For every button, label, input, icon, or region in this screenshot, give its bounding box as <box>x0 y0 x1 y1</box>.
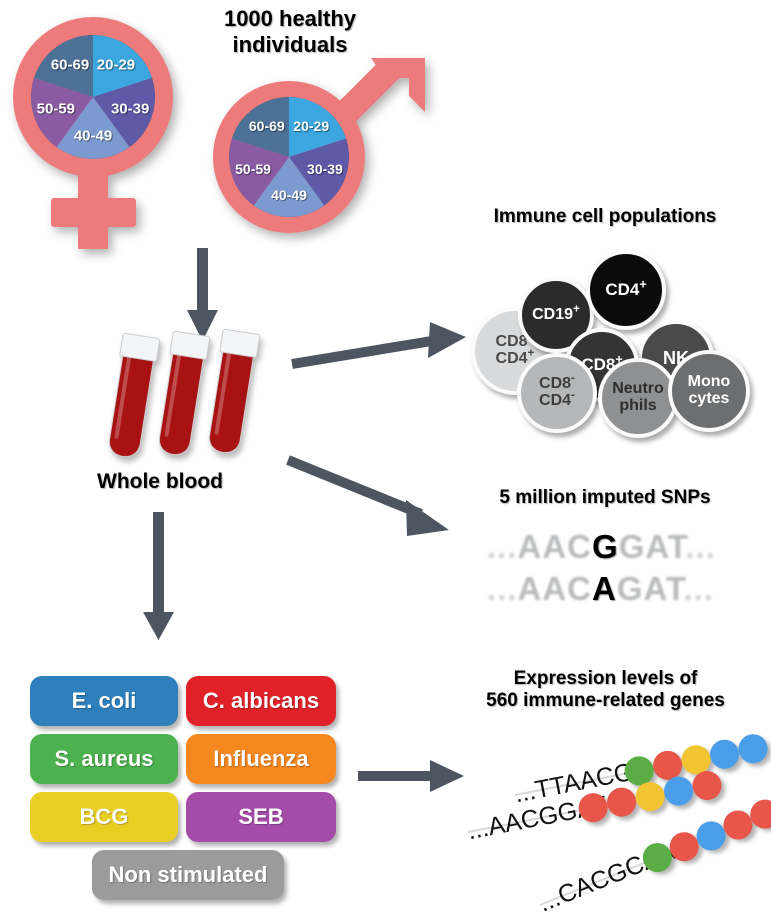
cell-monocytes: Mono cytes <box>668 350 750 432</box>
stimulus-bcg[interactable]: BCG <box>30 792 178 842</box>
tube-body <box>157 345 206 458</box>
section-title-immune: Immune cell populations <box>440 206 770 228</box>
age-pie-female: 20-2930-3940-4950-5960-69 <box>31 35 155 159</box>
stimulus-label: Non stimulated <box>109 862 268 888</box>
snp-suffix: ... <box>685 528 716 565</box>
stimulus-c-albicans[interactable]: C. albicans <box>186 676 336 726</box>
male-symbol: 20-2930-3940-4950-5960-69 <box>208 48 428 248</box>
pie-label-20-29: 20-29 <box>97 57 135 74</box>
section-title-expression: Expression levels of560 immune-related g… <box>440 668 771 713</box>
cell-cd8neg-cd4neg-line2: CD4- <box>539 392 575 409</box>
arrow-blood-to-snps <box>286 452 466 542</box>
cell-monocytes-line1: Mono <box>688 373 731 390</box>
stimulus-s-aureus[interactable]: S. aureus <box>30 734 178 784</box>
stimulus-label: SEB <box>238 804 283 830</box>
cell-neutrophils-line2: phils <box>619 397 656 414</box>
figure-canvas: 1000 healthyindividuals 20-2930-3940-495… <box>0 0 771 922</box>
snp-right: GAT <box>617 570 684 607</box>
cell-neutrophils: Neutro phils <box>598 358 678 438</box>
pie-label-40-49: 40-49 <box>271 187 307 203</box>
cell-cd8neg-cd4neg: CD8- CD4- <box>517 353 597 433</box>
pie-label-30-39: 30-39 <box>111 101 149 118</box>
snp-prefix: ... <box>487 528 518 565</box>
arrow-blood-to-stimuli <box>140 512 180 642</box>
female-symbol: 20-2930-3940-4950-5960-69 <box>8 12 188 252</box>
stimulus-influenza[interactable]: Influenza <box>186 734 336 784</box>
pie-label-50-59: 50-59 <box>37 101 75 118</box>
stimulus-label: S. aureus <box>54 746 153 772</box>
snp-prefix: ... <box>487 570 518 607</box>
stimulus-label: C. albicans <box>203 688 319 714</box>
tube-body <box>107 347 156 460</box>
pie-label-50-59: 50-59 <box>235 161 271 177</box>
arrow-blood-to-immune <box>290 318 470 378</box>
snp-left: AAC <box>518 570 593 607</box>
cell-monocytes-line2: cytes <box>689 390 730 407</box>
stimulus-seb[interactable]: SEB <box>186 792 336 842</box>
female-symbol-crossbar <box>51 198 136 227</box>
gene-bead <box>605 785 639 819</box>
blood-tube <box>206 329 259 459</box>
gene-bead <box>736 732 770 766</box>
stimulus-label: Influenza <box>213 746 308 772</box>
blood-tube <box>106 333 159 463</box>
blood-tube <box>156 331 209 461</box>
stimulus-label: BCG <box>80 804 129 830</box>
blood-tubes <box>100 330 270 470</box>
snp-suffix: ... <box>683 570 714 607</box>
age-pie-male: 20-2930-3940-4950-5960-69 <box>229 97 349 217</box>
cell-neutrophils-line1: Neutro <box>612 380 664 397</box>
stimulus-label: E. coli <box>72 688 137 714</box>
snp-sequence-row: ...AACGGAT... <box>487 528 716 566</box>
snp-variant: G <box>592 528 619 565</box>
pie-label-30-39: 30-39 <box>307 161 343 177</box>
cell-cd8neg-cd4neg-line1: CD8- <box>539 375 575 392</box>
pie-label-20-29: 20-29 <box>293 118 329 134</box>
pie-label-60-69: 60-69 <box>51 57 89 74</box>
label-whole-blood: Whole blood <box>60 470 260 494</box>
stimuli-panel: E. coli C. albicans S. aureus Influenza … <box>30 676 350 896</box>
gene-bead <box>662 774 696 808</box>
snp-variant: A <box>592 570 617 607</box>
stimulus-non-stimulated[interactable]: Non stimulated <box>92 850 284 900</box>
arrow-stimuli-to-expression <box>358 752 468 800</box>
pie-label-40-49: 40-49 <box>74 128 112 145</box>
title-individuals-line1: 1000 healthy <box>224 6 356 31</box>
cell-cd4pos: CD4+ <box>586 250 666 330</box>
stimulus-e-coli[interactable]: E. coli <box>30 676 178 726</box>
snp-right: GAT <box>619 528 686 565</box>
immune-cell-cluster: CD8+ CD4+ CD19+ NK CD4+ CD8+ CD8- CD4- <box>455 240 771 420</box>
pie-label-60-69: 60-69 <box>249 118 285 134</box>
snp-left: AAC <box>518 528 593 565</box>
section-title-snps: 5 million imputed SNPs <box>440 487 770 509</box>
gene-bead <box>633 780 667 814</box>
snp-sequence-row: ...AACAGAT... <box>487 570 714 608</box>
title-expression-line1: Expression levels of <box>514 668 698 689</box>
title-expression-line2: 560 immune-related genes <box>486 690 725 711</box>
tube-body <box>207 343 256 456</box>
